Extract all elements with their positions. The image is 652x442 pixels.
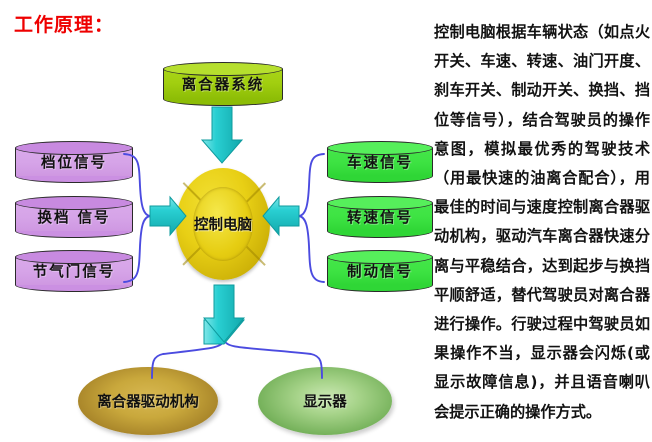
arrow-down-computer-to-outputs xyxy=(204,285,244,344)
node-label: 控制电脑 xyxy=(172,214,274,235)
node-label: 车速信号 xyxy=(327,152,433,173)
arrow-down-clutch-to-computer xyxy=(202,107,242,163)
node-label: 节气门信号 xyxy=(15,261,133,282)
node-label: 转速信号 xyxy=(327,207,433,228)
node-display[interactable]: 显示器 xyxy=(258,367,392,435)
node-label: 离合器系统 xyxy=(163,74,283,95)
node-label: 档位信号 xyxy=(15,152,133,173)
description-paragraph: 控制电脑根据车辆状态（如点火开关、车速、转速、油门开度、刹车开关、制动开关、换挡… xyxy=(434,18,650,427)
node-brake-signal[interactable]: 制动信号 xyxy=(327,250,433,292)
node-throttle-signal[interactable]: 节气门信号 xyxy=(15,250,133,292)
node-shift-signal[interactable]: 换档 信号 xyxy=(15,196,133,238)
node-engine-speed-signal[interactable]: 转速信号 xyxy=(327,196,433,238)
diagram-canvas: 工作原理： 控制电脑根据车辆状态（如点火开关、车速、转速、油门开度、刹车开关、制… xyxy=(0,0,652,442)
node-vehicle-speed-signal[interactable]: 车速信号 xyxy=(327,141,433,183)
node-label: 制动信号 xyxy=(327,261,433,282)
node-label: 离合器驱动机构 xyxy=(78,391,218,412)
node-label: 换档 信号 xyxy=(15,207,133,228)
node-clutch-system[interactable]: 离合器系统 xyxy=(163,62,283,106)
node-gear-position-signal[interactable]: 档位信号 xyxy=(15,141,133,183)
node-label: 显示器 xyxy=(258,391,392,412)
node-clutch-actuator[interactable]: 离合器驱动机构 xyxy=(78,367,218,435)
node-control-computer[interactable]: 控制电脑 xyxy=(176,168,270,280)
page-title: 工作原理： xyxy=(14,10,114,37)
brace-right-inputs xyxy=(299,154,324,282)
